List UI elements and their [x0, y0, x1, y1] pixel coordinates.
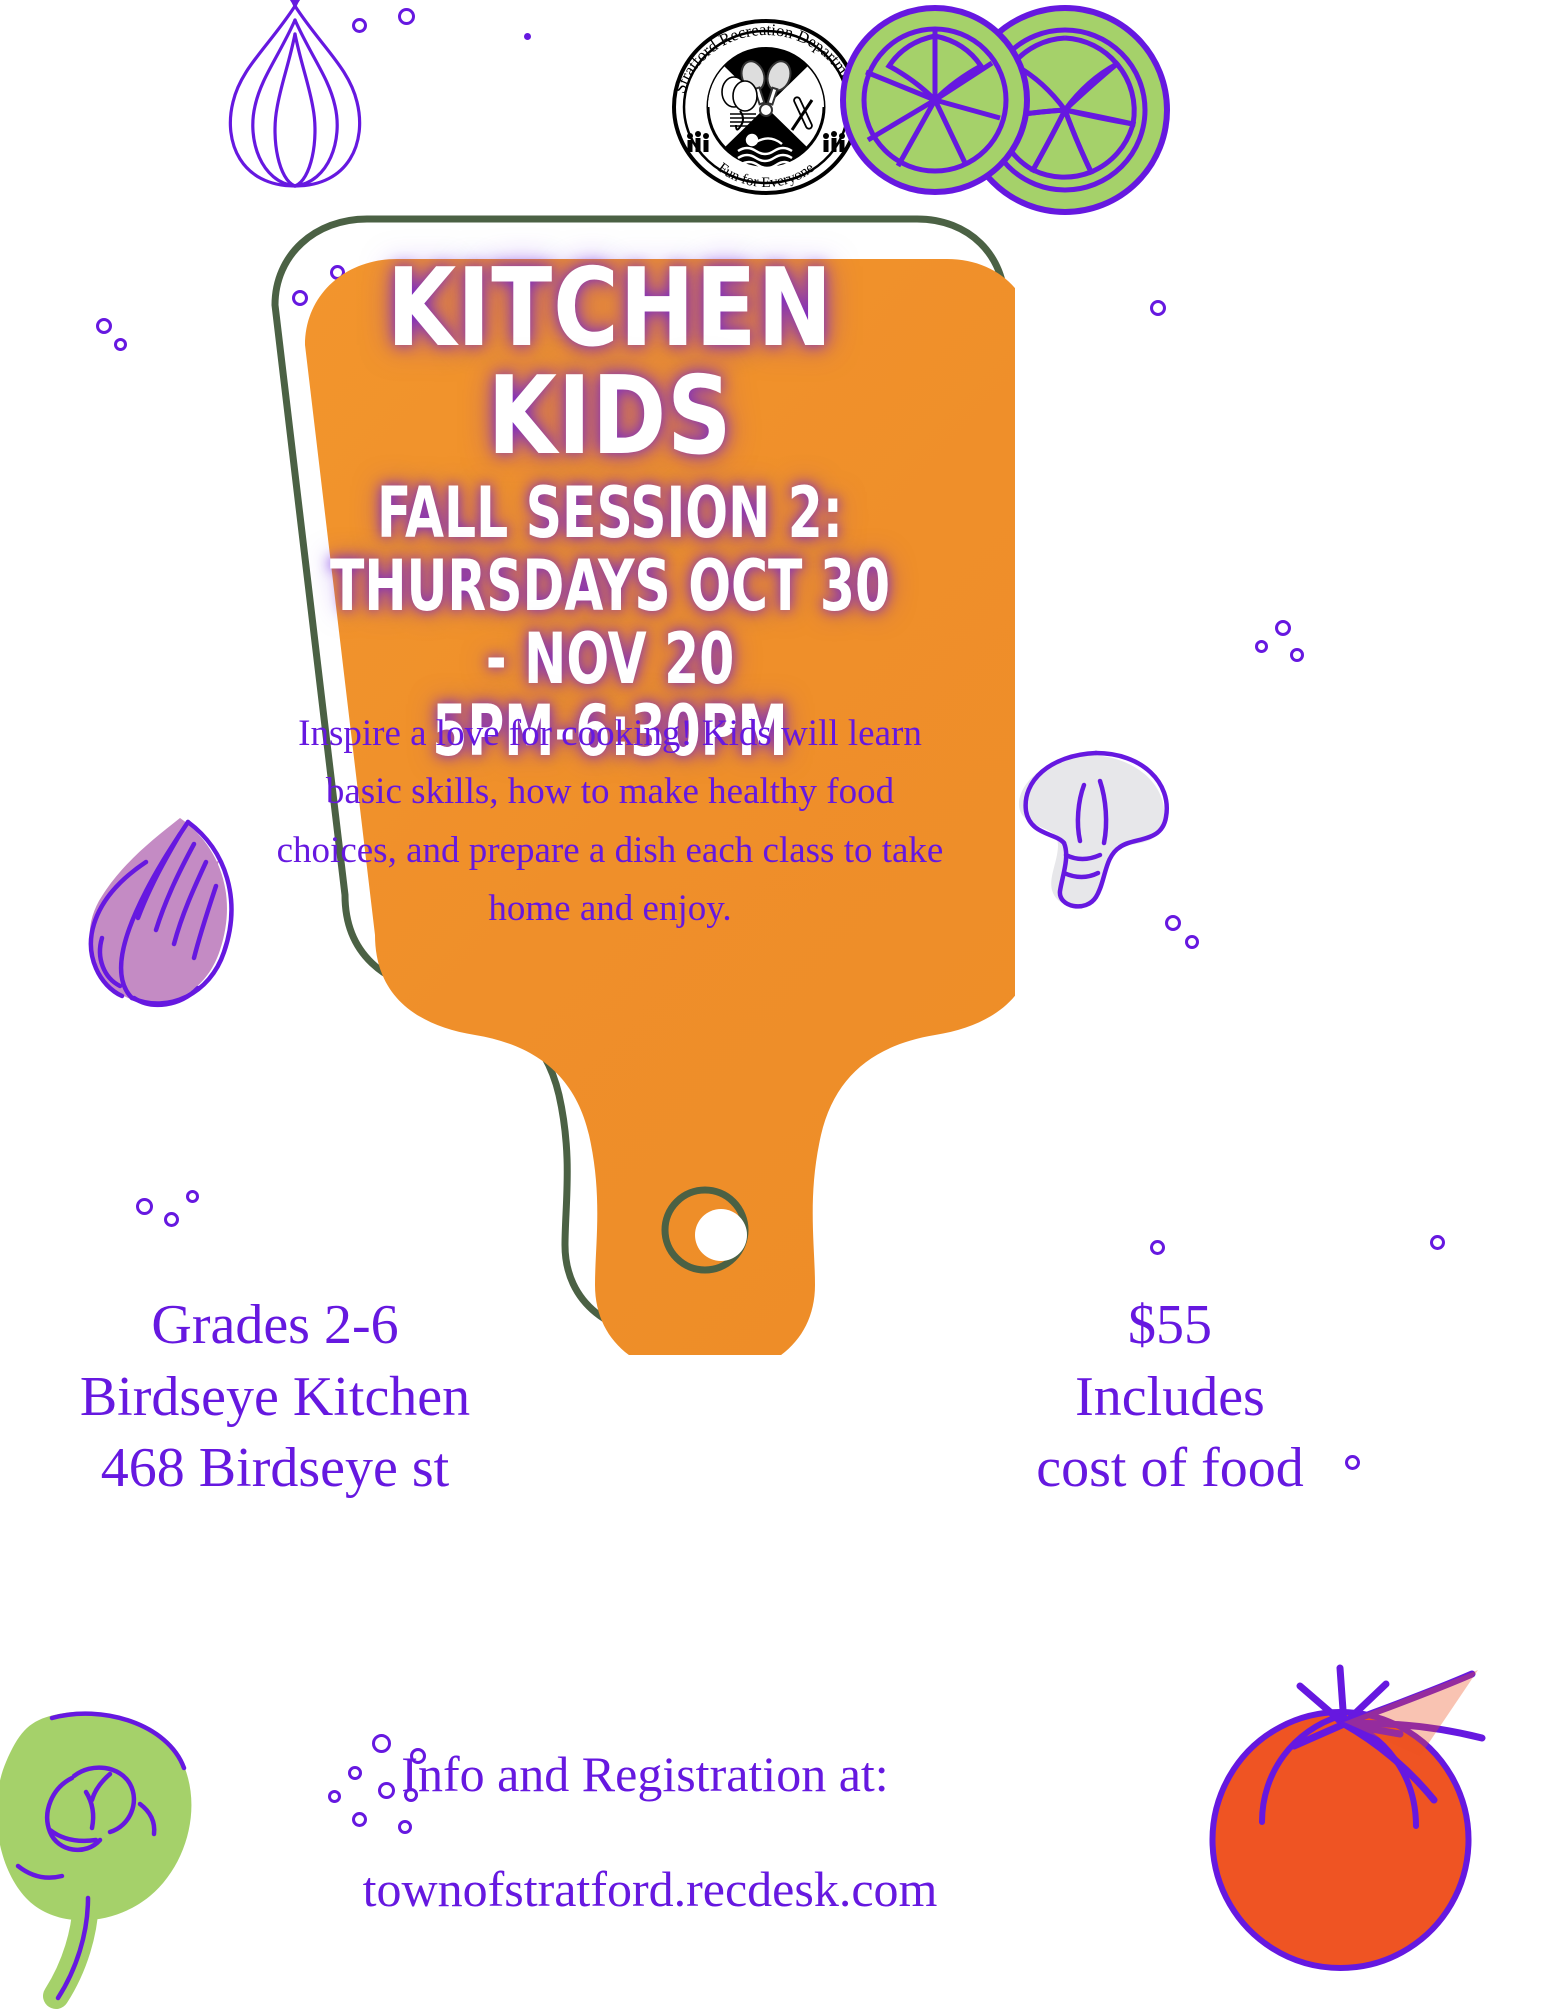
speckle-dot [1150, 1240, 1165, 1255]
program-description: Inspire a love for cooking! Kids will le… [265, 705, 955, 939]
speckle-dot [1185, 935, 1199, 949]
speckle-dot [1290, 648, 1304, 662]
speckle-dot [1165, 915, 1181, 931]
speckle-dot [96, 318, 112, 334]
mushroom-icon [1000, 745, 1175, 915]
registration-url[interactable]: townofstratford.recdesk.com [280, 1860, 1020, 1918]
address-text: 468 Birdseye st [30, 1433, 520, 1505]
flyer-canvas: Stratford Recreation Department Fun for … [0, 0, 1545, 2000]
price-text: $55 [960, 1290, 1380, 1362]
speckle-dot [1430, 1235, 1445, 1250]
speckle-dot [1255, 640, 1268, 653]
includes-line-2: cost of food [960, 1433, 1380, 1505]
speckle-dot [186, 1190, 199, 1203]
speckle-dot [524, 33, 531, 40]
speckle-dot [352, 1812, 367, 1827]
board-headline-block: KITCHEN KIDS FALL SESSION 2: THURSDAYS O… [240, 255, 980, 768]
speckle-dot [398, 1820, 412, 1834]
session-line-2: THURSDAYS OCT 30 - NOV 20 [314, 550, 906, 696]
broccoli-icon [0, 1700, 240, 2010]
speckle-dot [352, 18, 367, 33]
onion-icon [195, 0, 395, 205]
speckle-dot [398, 8, 415, 25]
speckle-dot [136, 1198, 153, 1215]
registration-label: Info and Registration at: [300, 1745, 990, 1803]
details-left-block: Grades 2-6 Birdseye Kitchen 468 Birdseye… [30, 1290, 520, 1505]
session-line-1: FALL SESSION 2: [314, 477, 906, 550]
speckle-dot [164, 1212, 179, 1227]
speckle-dot [1275, 620, 1291, 636]
speckle-dot [1150, 300, 1166, 316]
page-title: KITCHEN KIDS [270, 255, 951, 471]
tomato-icon [1190, 1660, 1520, 1990]
grades-text: Grades 2-6 [30, 1290, 520, 1362]
speckle-dot [114, 338, 127, 351]
venue-text: Birdseye Kitchen [30, 1362, 520, 1434]
details-right-block: $55 Includes cost of food [960, 1290, 1380, 1505]
includes-line-1: Includes [960, 1362, 1380, 1434]
